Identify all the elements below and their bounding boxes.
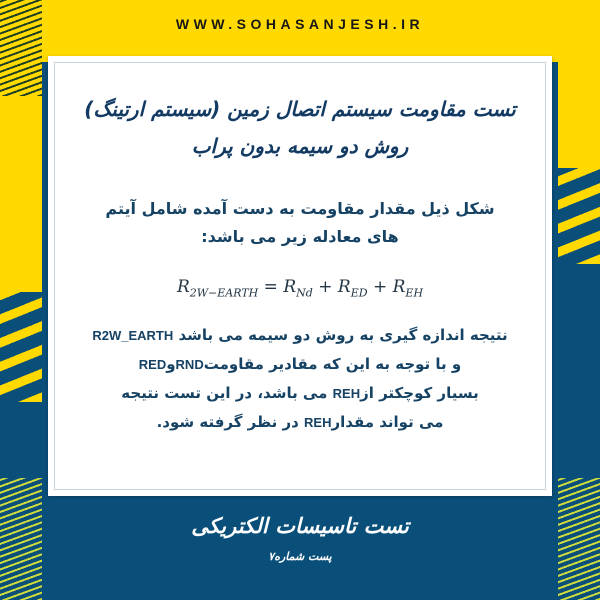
note-line-3-text-b: می باشد، در این تست نتیجه	[121, 384, 327, 402]
poster-root: WWW.SOHASANJESH.IR تست مقاومت سیستم اتصا…	[0, 0, 600, 600]
note-symbol-reh-2: REH	[304, 411, 331, 436]
resistance-formula: R2W−EARTH = RNd + RED + REH	[81, 277, 519, 299]
title-line-2: روش دو سیمه بدون پراب	[81, 128, 519, 165]
intro-line-2: های معادله زیر می باشد:	[81, 223, 519, 251]
note-block: نتیجه اندازه گیری به روش دو سیمه می باشد…	[81, 321, 519, 436]
note-line-4-text-a: می تواند مقدار	[332, 413, 444, 431]
note-line-2-text-b: و	[166, 355, 175, 373]
title-block: تست مقاومت سیستم اتصال زمین (سیستم ارتین…	[81, 91, 519, 165]
intro-block: شکل ذیل مقدار مقاومت به دست آمده شامل آی…	[81, 195, 519, 251]
formula-term3-base: R	[393, 277, 406, 297]
formula-term1-base: R	[283, 277, 296, 297]
note-symbol-r2w-earth: R2W_EARTH	[92, 324, 173, 349]
note-line-3: بسیار کوچکتر ازREH می باشد، در این تست ن…	[81, 379, 519, 408]
note-line-1: نتیجه اندازه گیری به روش دو سیمه می باشد…	[81, 321, 519, 350]
top-left-hatch-pattern	[0, 0, 42, 96]
note-line-4-text-b: در نظر گرفته شود.	[157, 413, 299, 431]
footer: تست تاسیسات الکتریکی پست شماره۷	[0, 496, 600, 600]
note-line-3-text-a: بسیار کوچکتر از	[360, 384, 479, 402]
note-symbol-rnd: RND	[176, 353, 204, 378]
note-line-4: می تواند مقدارREH در نظر گرفته شود.	[81, 408, 519, 437]
formula-term2-sub: ED	[351, 286, 368, 299]
formula-term2-base: R	[338, 277, 351, 297]
formula-term1-sub: Nd	[296, 286, 313, 299]
formula-equals: =	[264, 277, 278, 297]
formula-plus-1: +	[318, 277, 332, 297]
right-diagonal-stripes	[558, 168, 600, 264]
formula-term3-sub: EH	[405, 286, 423, 299]
footer-title: تست تاسیسات الکتریکی	[0, 514, 600, 538]
formula-plus-2: +	[373, 277, 387, 297]
note-line-2-text-a: و با توجه به این که مقادیر مقاومت	[204, 355, 462, 373]
left-diagonal-stripes	[0, 292, 42, 402]
formula-lhs-base: R	[177, 277, 190, 297]
site-url-text: WWW.SOHASANJESH.IR	[0, 16, 600, 32]
note-line-1-text: نتیجه اندازه گیری به روش دو سیمه می باشد	[179, 326, 508, 344]
note-line-2: و با توجه به این که مقادیر مقاومتRNDوRED	[81, 350, 519, 379]
content-card: تست مقاومت سیستم اتصال زمین (سیستم ارتین…	[48, 56, 552, 496]
note-symbol-reh-1: REH	[333, 382, 360, 407]
content-card-inner: تست مقاومت سیستم اتصال زمین (سیستم ارتین…	[54, 62, 546, 490]
formula-lhs-sub: 2W−EARTH	[190, 286, 259, 299]
footer-subtitle: پست شماره۷	[0, 550, 600, 563]
note-symbol-red: RED	[139, 353, 166, 378]
intro-line-1: شکل ذیل مقدار مقاومت به دست آمده شامل آی…	[81, 195, 519, 223]
title-line-1: تست مقاومت سیستم اتصال زمین (سیستم ارتین…	[81, 91, 519, 128]
